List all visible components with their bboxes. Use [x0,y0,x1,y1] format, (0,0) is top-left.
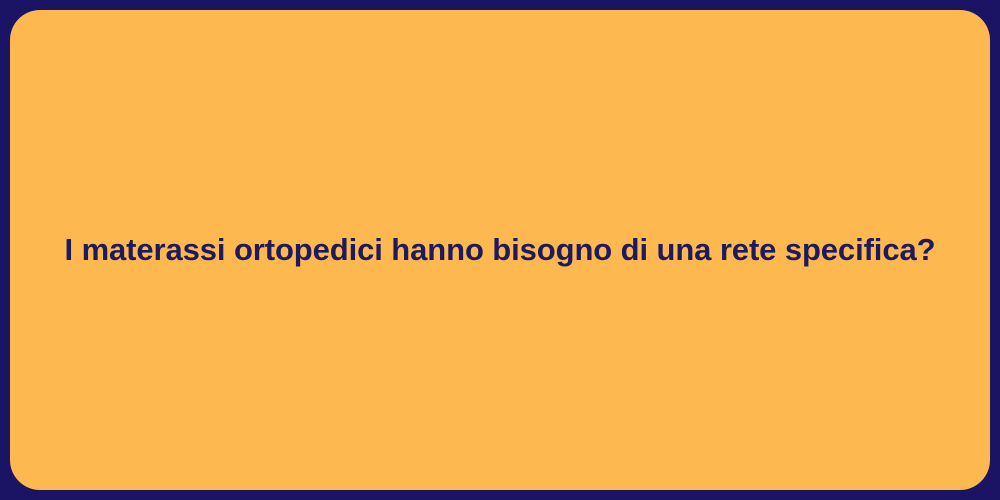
page-frame: I materassi ortopedici hanno bisogno di … [0,0,1000,500]
question-card: I materassi ortopedici hanno bisogno di … [10,10,990,490]
page-title: I materassi ortopedici hanno bisogno di … [29,230,972,270]
